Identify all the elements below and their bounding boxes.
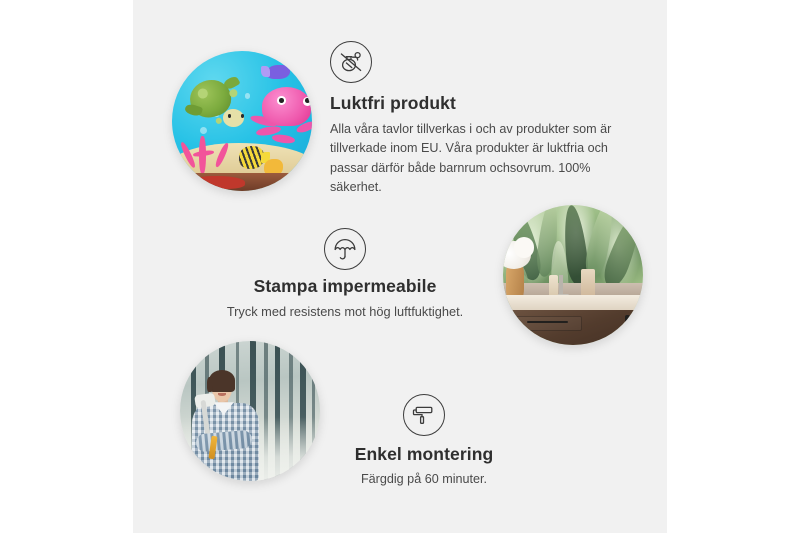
feature-title: Luktfri produkt [330,93,622,114]
feature-description: Tryck med resistens mot hög luftfuktighe… [214,302,476,322]
feature-description: Alla våra tavlor tillverkas i och av pro… [330,120,622,197]
product-image-sea-life[interactable] [172,51,312,191]
product-image-painter[interactable] [180,341,320,481]
screenshot-canvas: Luktfri produkt Alla våra tavlor tillver… [0,0,800,533]
bubble-icon [245,93,251,99]
purple-fish-icon [267,65,289,79]
feature-assembly: Enkel montering Färgdig på 60 minuter. [318,394,530,489]
product-image-bathroom[interactable] [503,205,643,345]
striped-fish-icon [239,146,264,168]
sea-floor [172,173,312,191]
feature-description: Färgdig på 60 minuter. [318,470,530,489]
vanity-cabinet [506,310,643,345]
drawer-handle-icon [527,321,569,323]
umbrella-icon [324,228,366,270]
feature-title: Stampa impermeabile [214,276,476,297]
countertop [503,295,643,312]
feature-odourless: Luktfri produkt Alla våra tavlor tillver… [330,41,622,197]
woman-figure [188,375,266,481]
no-fragrance-icon [330,41,372,83]
coral-icon [180,132,228,174]
paint-roller-icon [403,394,445,436]
feature-waterproof: Stampa impermeabile Tryck med resistens … [214,228,476,322]
octopus-icon [253,87,312,151]
door-handle-icon [625,315,631,335]
feature-title: Enkel montering [318,444,530,465]
sea-turtle-icon [186,80,242,128]
